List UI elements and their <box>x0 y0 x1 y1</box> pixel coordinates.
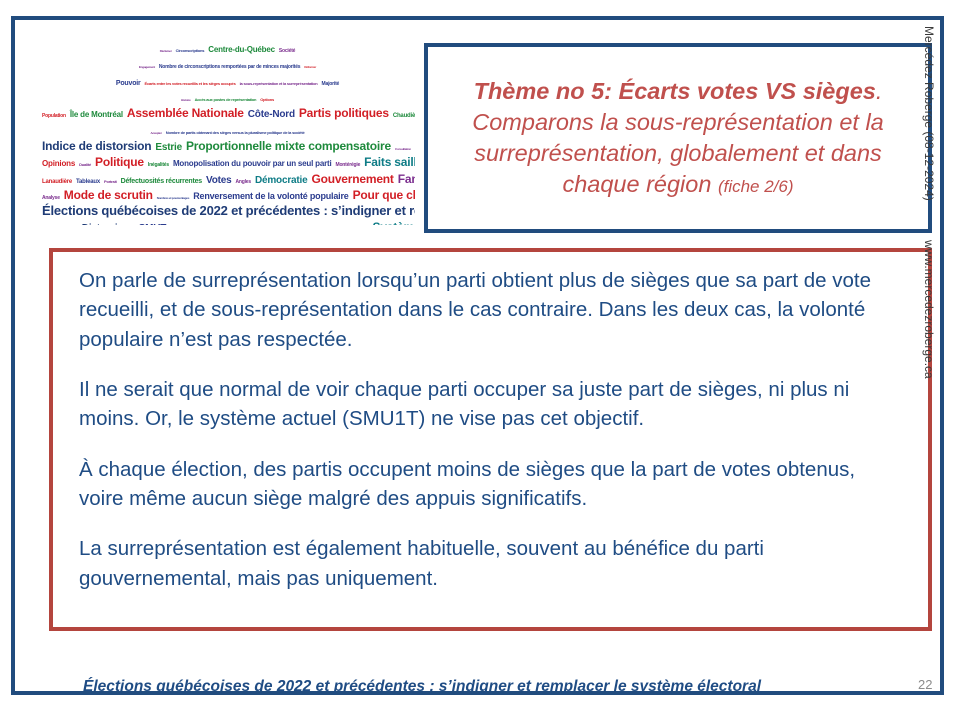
word-cloud-term: Histoire <box>181 99 191 102</box>
word-cloud-term: Opinions <box>42 160 75 168</box>
word-cloud-term: Lanaudière <box>42 179 72 185</box>
slide-frame: RéclamerCirconscriptionsCentre-du-Québec… <box>11 16 944 695</box>
word-cloud-term: Accès aux postes de représentation <box>195 98 257 102</box>
author-credit: Mercédez Roberge (08-12-2024) <box>922 26 936 201</box>
word-cloud-term: Réformer <box>304 66 316 69</box>
word-cloud-term: Élections québécoises de 2022 et précéde… <box>42 204 415 217</box>
word-cloud-line: LanaudièreTableauxPortraitDéfectuosités … <box>40 171 415 187</box>
word-cloud-term: Montérégie <box>335 163 360 168</box>
title-box: Thème no 5: Écarts votes VS sièges. Comp… <box>424 43 932 233</box>
title-lead: Thème no 5: Écarts votes VS sièges <box>474 78 876 104</box>
body-paragraph: La surreprésentation est également habit… <box>79 534 904 593</box>
word-cloud-term: Centre-du-Québec <box>208 46 275 54</box>
word-cloud-term: Famille majoritaire <box>398 173 415 185</box>
page-title: Thème no 5: Écarts votes VS sièges. Comp… <box>428 76 928 200</box>
word-cloud-line: Indice de distorsionEstrieProportionnell… <box>40 138 415 154</box>
word-cloud-term: Proportionnelle mixte compensatoire <box>186 140 391 152</box>
word-cloud-term: Pour que chaque personne compte <box>353 189 415 201</box>
word-cloud-term: Pouvoir <box>116 80 141 87</box>
word-cloud-term: Faits saillants <box>364 156 415 168</box>
word-cloud-term: Écarts entre les votes recueillis et les… <box>145 82 236 86</box>
word-cloud-term: Défectuosités récurrentes <box>121 178 202 185</box>
word-cloud-term: Assemblée Nationale <box>127 107 244 119</box>
word-cloud-line: AnalyseMode de scrutinNombres et pourcen… <box>40 187 415 203</box>
word-cloud-term: Inégalités <box>148 163 169 168</box>
word-cloud-term: Nombres et pourcentages <box>157 197 189 200</box>
body-paragraph: On parle de surreprésentation lorsqu’un … <box>79 266 904 354</box>
word-cloud-term: Démocratie <box>255 176 307 186</box>
word-cloud-term: la sous-représentation et la surreprésen… <box>240 82 318 86</box>
word-cloud-term: Indice de distorsion <box>42 140 151 152</box>
word-cloud-term: Partis politiques <box>299 107 389 119</box>
word-cloud-term: Mode de scrutin <box>64 189 153 201</box>
word-cloud-term: Île de Montréal <box>70 111 123 119</box>
word-cloud-line: Élections québécoises de 2022 et précéde… <box>40 203 415 219</box>
word-cloud-line: PouvoirÉcarts entre les votes recueillis… <box>40 73 415 89</box>
word-cloud-line: OpinionsDualitéPolitiqueInégalitésMonopo… <box>40 154 415 170</box>
word-cloud-term: Système électoral <box>373 221 415 225</box>
body-paragraph: À chaque élection, des partis occupent m… <box>79 455 904 514</box>
website-credit[interactable]: www.mercedezroberge.ca <box>922 240 936 379</box>
word-cloud-term: Options <box>260 98 274 102</box>
word-cloud-term: Chaudière-Appalaches <box>393 113 415 119</box>
word-cloud-term: Circonscriptions <box>176 49 205 53</box>
word-cloud-term: Nombre de circonscriptions remportées pa… <box>159 65 300 70</box>
word-cloud-term: Tableaux <box>76 179 100 185</box>
word-cloud-line: AccepterNombre de partis obtenant des si… <box>40 122 415 138</box>
main-text-box: On parle de surreprésentation lorsqu’un … <box>49 248 932 631</box>
word-cloud-term: Majorité <box>322 82 340 87</box>
word-cloud-term: Politique <box>95 156 144 168</box>
word-cloud-term: Portrait <box>104 180 117 184</box>
word-cloud-term: Société <box>279 49 295 54</box>
word-cloud-term: Nombre de partis obtenant des sièges ver… <box>166 131 305 135</box>
footer-text: Élections québécoises de 2022 et précéde… <box>83 678 903 696</box>
word-cloud-term: Engagement <box>139 66 155 69</box>
word-cloud-line: EngagementNombre de circonscriptions rem… <box>40 56 415 72</box>
word-cloud-term: Analyse <box>42 196 60 201</box>
word-cloud-term: Monopolisation du pouvoir par un seul pa… <box>173 160 332 168</box>
title-fiche-label: (fiche 2/6) <box>718 177 794 196</box>
body-paragraph: Il ne serait que normal de voir chaque p… <box>79 375 904 434</box>
word-cloud-image: RéclamerCirconscriptionsCentre-du-Québec… <box>40 40 415 225</box>
word-cloud-term: Accepter <box>151 132 162 135</box>
word-cloud-line: HistoireAccès aux postes de représentati… <box>40 89 415 105</box>
word-cloud-term: Renversement de la volonté populaire <box>193 192 348 201</box>
word-cloud-term: Estrie <box>155 143 182 153</box>
title-rest: Comparons la sous-représentation et la s… <box>472 109 883 197</box>
word-cloud-term: Réclamer <box>160 50 172 53</box>
page-number: 22 <box>918 677 932 692</box>
word-cloud-line: LégitimitéDistorsionsSMUTNiveau de diver… <box>40 219 415 225</box>
word-cloud-term: Gouvernement <box>311 173 393 185</box>
word-cloud-term: Côte-Nord <box>248 110 295 120</box>
title-lead-suffix: . <box>876 78 883 104</box>
word-cloud-term: Consultation <box>395 148 411 151</box>
word-cloud-line: RéclamerCirconscriptionsCentre-du-Québec… <box>40 40 415 56</box>
word-cloud-term: Angles <box>235 180 250 185</box>
word-cloud-term: SMUT <box>139 224 167 225</box>
word-cloud-line: PopulationÎle de MontréalAssemblée Natio… <box>40 105 415 121</box>
word-cloud-term: Dualité <box>79 163 91 167</box>
word-cloud-term: Distorsions <box>82 224 135 225</box>
word-cloud-term: Votes <box>206 176 232 186</box>
word-cloud-term: Population <box>42 114 66 119</box>
